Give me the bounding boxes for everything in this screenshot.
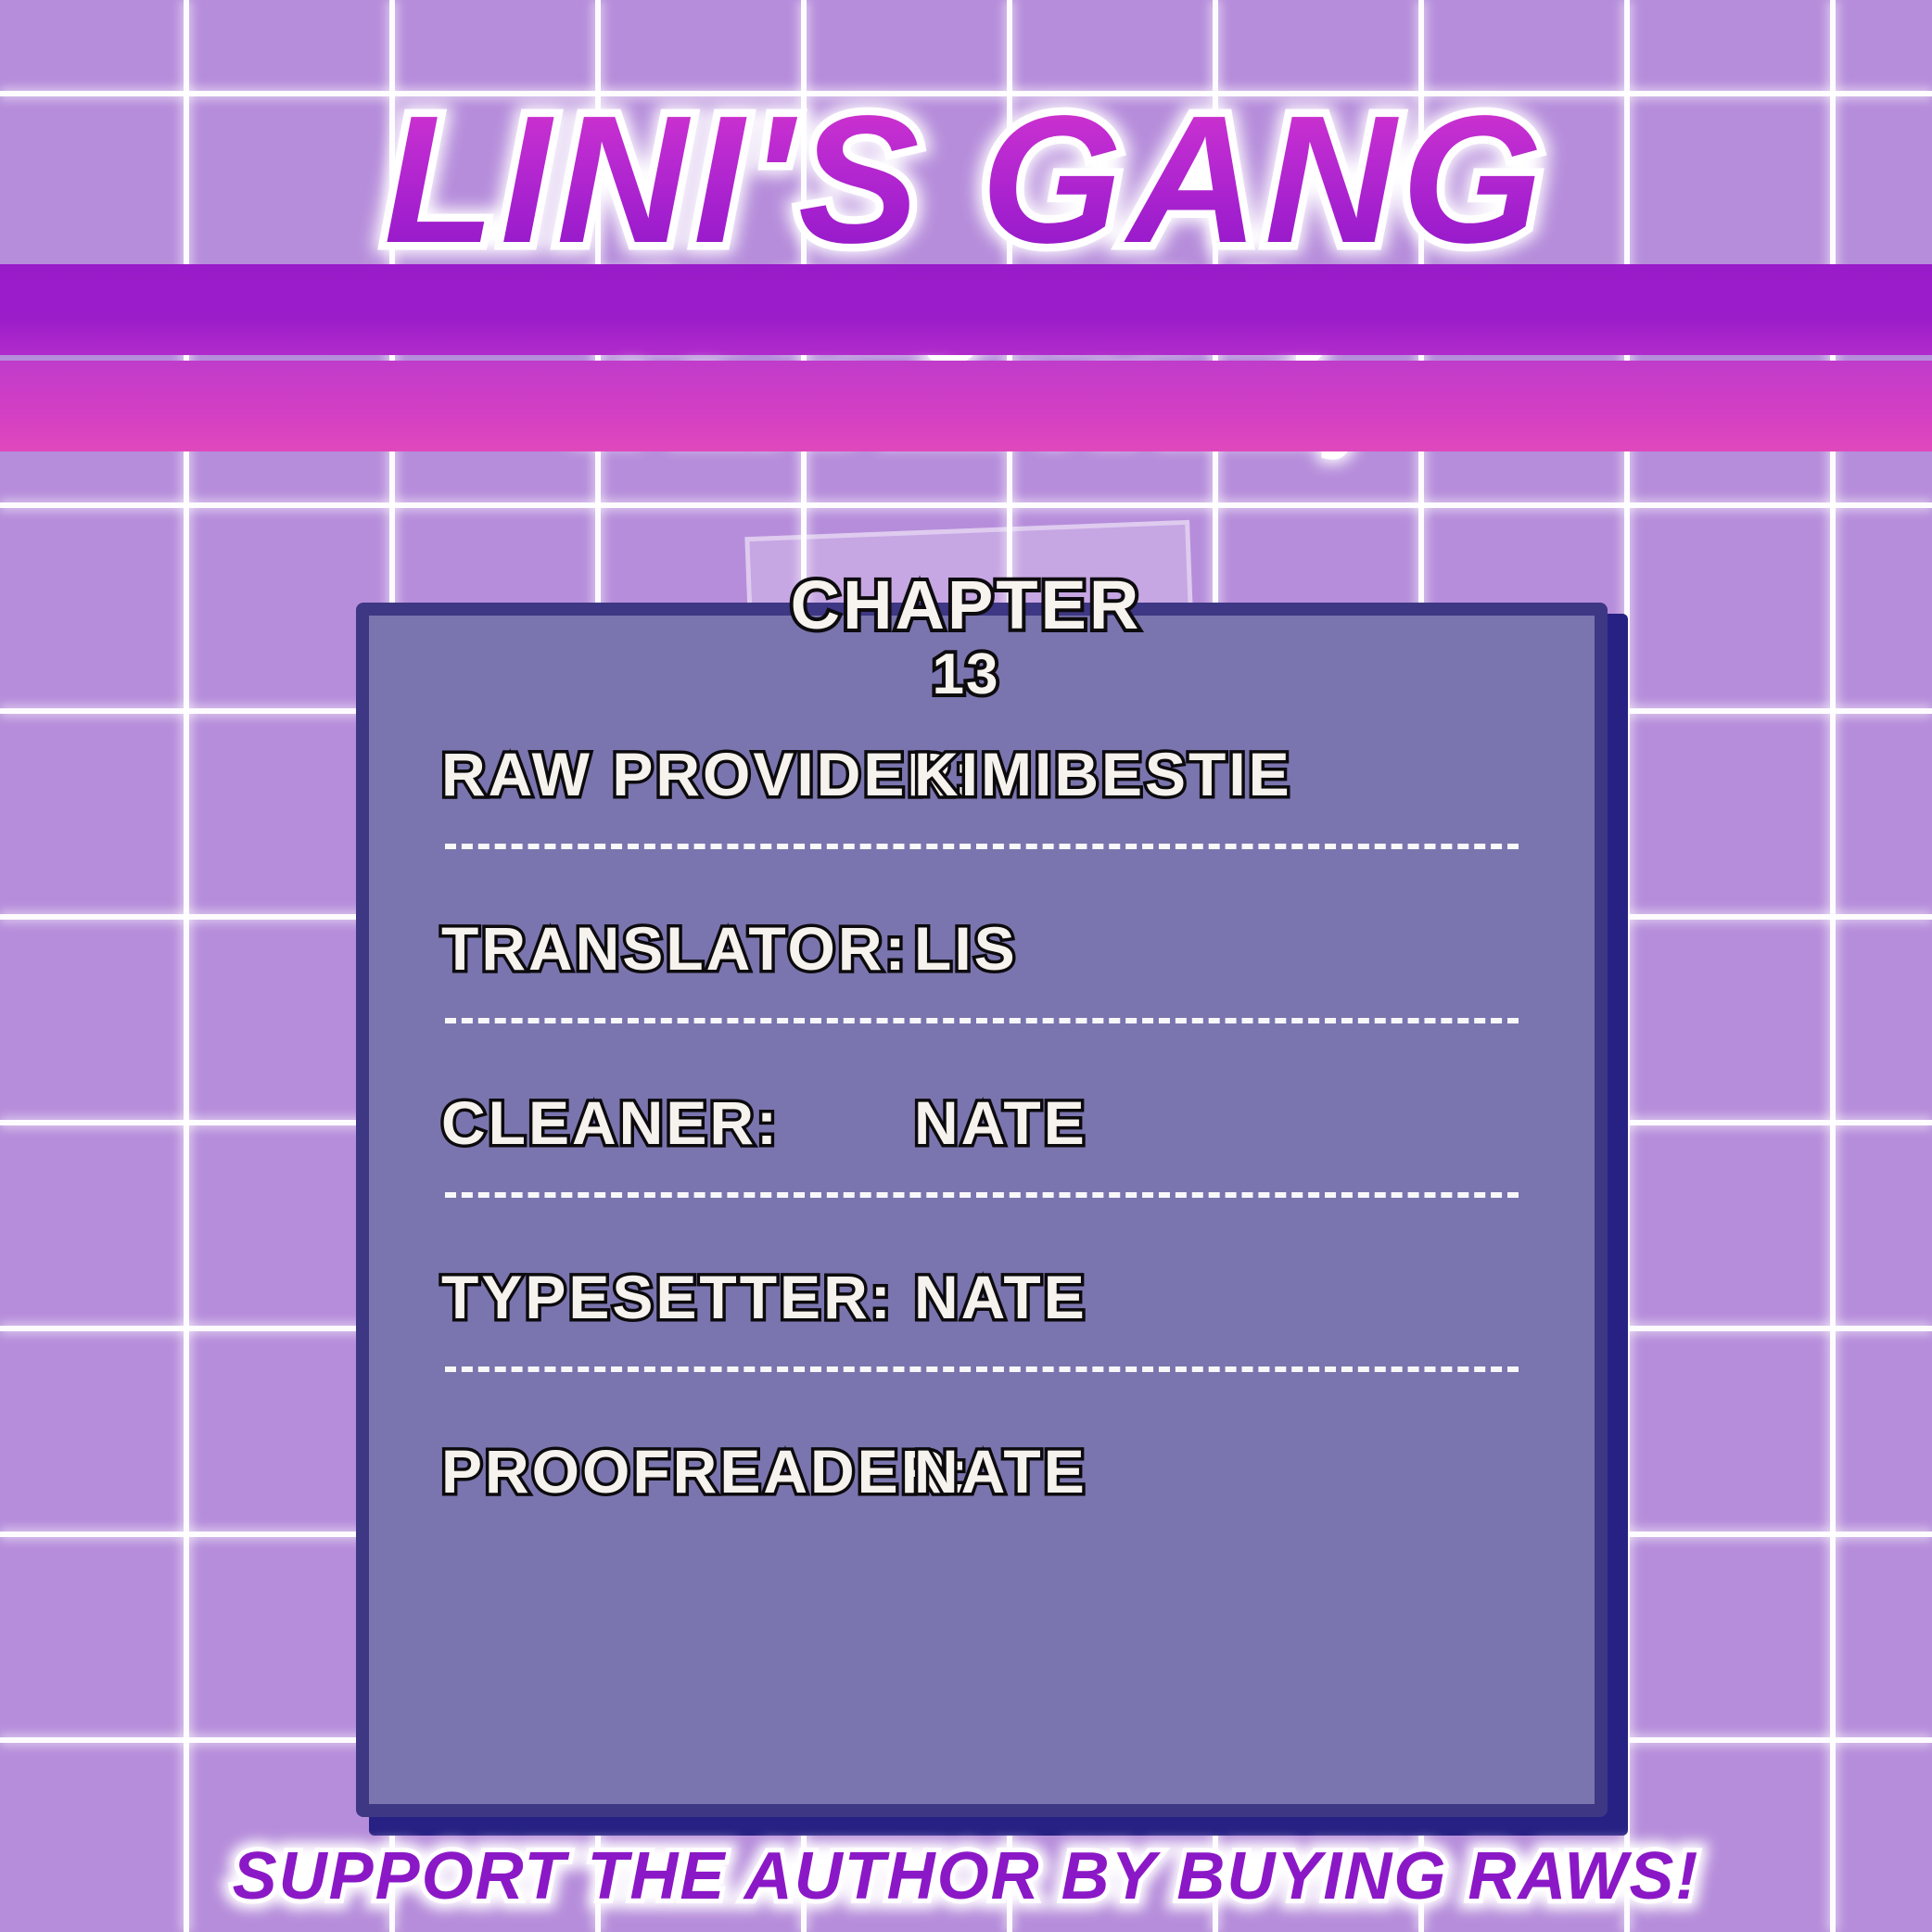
credit-role-label: PROOFREADER: [441,1436,914,1506]
credit-name-value: KIMIBESTIE [914,739,1530,809]
series-subtitle: The Gangster Baby The Gangster Baby The … [0,264,1932,457]
subtitle-line-1-text: The Gangster Baby [0,264,1932,355]
support-footer-text: SUPPORT THE AUTHOR BY BUYING RAWS! [0,1843,1932,1910]
credit-spacer [356,1372,1608,1402]
credit-spacer [356,849,1608,879]
credit-role-label: CLEANER: [441,1087,914,1158]
credit-name-value: NATE [914,1436,1530,1506]
credits-page: LINI'S GANG LINI'S GANG LINI'S GANG The … [0,0,1932,1932]
credit-role-label: RAW PROVIDER: [441,739,914,809]
chapter-label: CHAPTER [0,566,1932,644]
credit-name-value: NATE [914,1262,1530,1332]
support-footer: SUPPORT THE AUTHOR BY BUYING RAWS! SUPPO… [0,1843,1932,1910]
credit-row: CLEANER: NATE [356,1053,1608,1192]
chapter-number: 13 [0,642,1932,707]
credit-role-label: TYPESETTER: [441,1262,914,1332]
credit-name-value: LIS [914,913,1530,984]
credit-row: PROOFREADER: NATE [356,1402,1608,1541]
subtitle-line-1: The Gangster Baby The Gangster Baby The … [0,264,1932,361]
credit-name-value: NATE [914,1087,1530,1158]
series-title: LINI'S GANG LINI'S GANG LINI'S GANG [0,89,1932,271]
credits-list: RAW PROVIDER: KIMIBESTIE TRANSLATOR: LIS… [356,705,1608,1541]
credit-row: TYPESETTER: NATE [356,1227,1608,1366]
credit-role-label: TRANSLATOR: [441,913,914,984]
credit-row: RAW PROVIDER: KIMIBESTIE [356,705,1608,844]
subtitle-line-2-text: of the Duke's Family [0,361,1932,451]
series-title-text: LINI'S GANG [0,89,1932,271]
credit-row: TRANSLATOR: LIS [356,879,1608,1018]
credit-spacer [356,1023,1608,1053]
subtitle-line-2: of the Duke's Family of the Duke's Famil… [0,361,1932,457]
credit-spacer [356,1198,1608,1227]
